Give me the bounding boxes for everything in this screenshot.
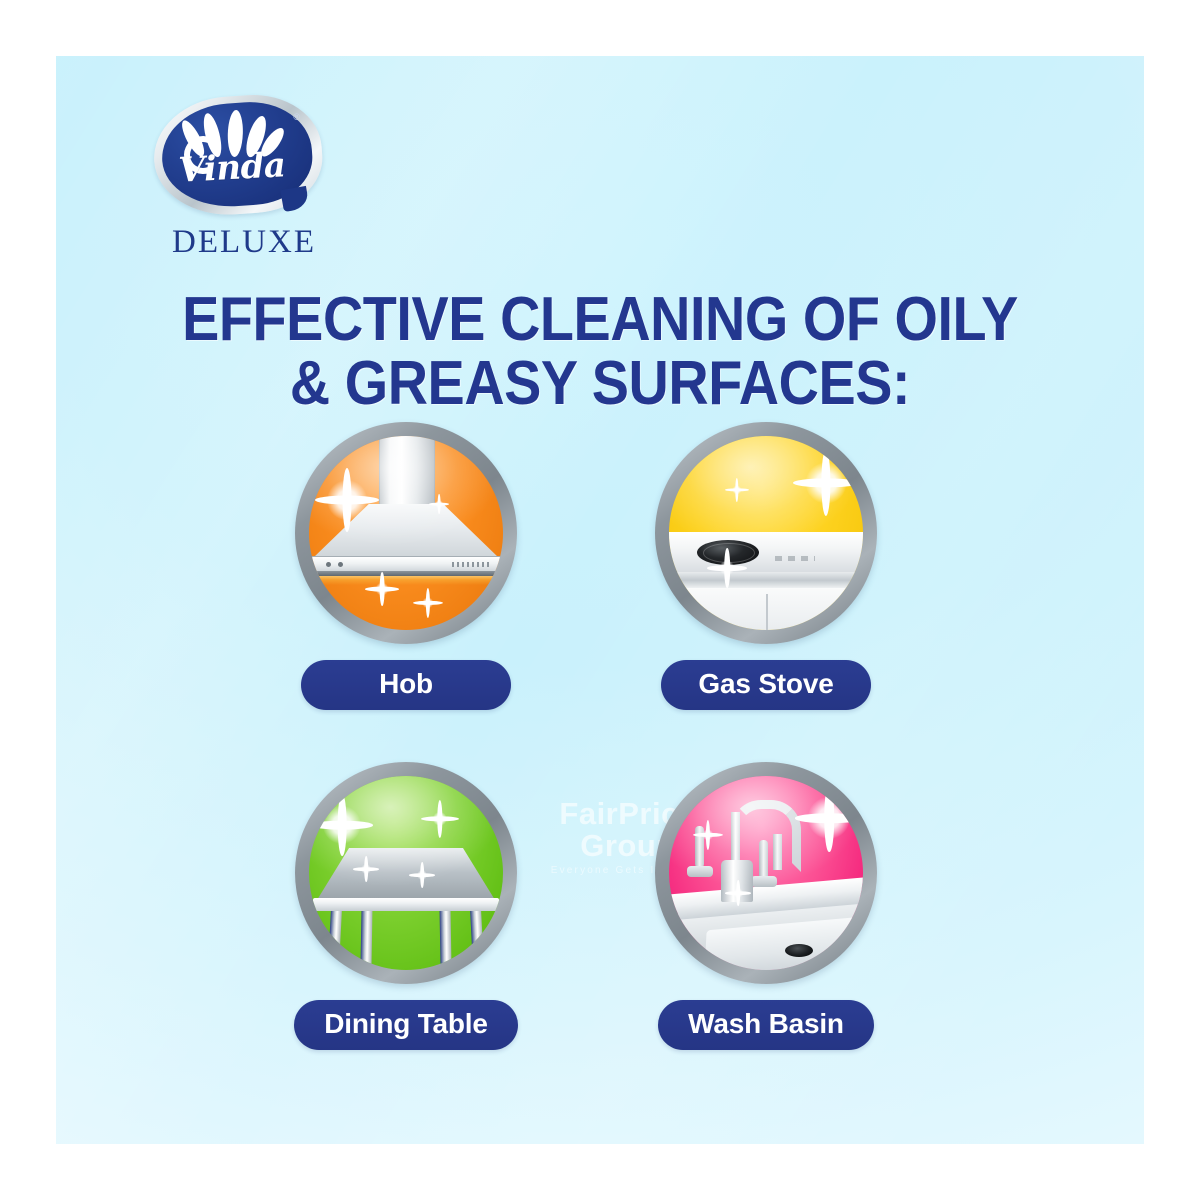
faucet-handle-base	[751, 876, 777, 887]
tile-row-1: Hob	[56, 422, 1144, 762]
hood-chimney	[379, 436, 435, 506]
hood-knob-icon	[338, 562, 343, 567]
tile-wash-basin[interactable]: Wash Basin	[616, 762, 916, 1050]
medallion-bezel	[295, 422, 517, 644]
faucet-riser	[731, 812, 740, 864]
headline-line-1: EFFECTIVE CLEANING OF OILY	[146, 288, 1053, 352]
vinda-wordmark: Vinda	[173, 145, 291, 191]
stove-counter-edge	[669, 572, 863, 588]
sparkle-icon	[793, 450, 859, 516]
stove-cabinet-divider	[766, 594, 768, 630]
table-top-surface	[317, 848, 495, 900]
hood-bottom-lip	[310, 571, 502, 576]
hood-canopy	[313, 504, 499, 558]
hood-knob-icon	[326, 562, 331, 567]
sparkle-icon	[421, 800, 459, 838]
page-title: EFFECTIVE CLEANING OF OILY & GREASY SURF…	[96, 288, 1104, 417]
faucet-spout-drop	[773, 834, 782, 870]
tile-hob[interactable]: Hob	[256, 422, 556, 710]
gas-stove-icon	[669, 436, 863, 630]
tile-gas-stove[interactable]: Gas Stove	[616, 422, 916, 710]
tile-label-dining-table[interactable]: Dining Table	[294, 1000, 518, 1050]
dining-table-icon	[309, 776, 503, 970]
medallion-bezel	[295, 762, 517, 984]
deluxe-subbrand: DELUXE	[124, 224, 364, 261]
surface-tiles-grid: Hob	[56, 422, 1144, 1102]
range-hood-icon	[309, 436, 503, 630]
stove-burner-ring	[703, 543, 755, 563]
medallion-bezel	[655, 762, 877, 984]
tile-dining-table[interactable]: Dining Table	[256, 762, 556, 1050]
medallion-bezel	[655, 422, 877, 644]
tile-label-gas-stove[interactable]: Gas Stove	[661, 660, 871, 710]
basin-drain	[785, 944, 813, 957]
sparkle-icon	[795, 784, 863, 852]
hood-vent-grille	[452, 562, 490, 567]
faucet-body	[721, 860, 753, 902]
tile-row-2: Dining Table	[56, 762, 1144, 1102]
stove-surface-marks	[775, 556, 815, 561]
table-apron	[313, 898, 499, 911]
table-leg	[439, 908, 451, 966]
sparkle-icon	[311, 794, 373, 856]
logo-tail-shape	[280, 186, 309, 212]
headline-line-2: & GREASY SURFACES:	[146, 352, 1053, 416]
faucet-handle	[695, 826, 704, 868]
sparkle-icon	[725, 478, 749, 502]
registered-trademark-icon: ®	[293, 112, 300, 122]
poster-root: FairPrice Group Everyone Gets It Better …	[0, 0, 1200, 1200]
tile-label-wash-basin[interactable]: Wash Basin	[658, 1000, 874, 1050]
wash-basin-icon	[669, 776, 863, 970]
faucet-handle-base	[687, 866, 713, 877]
table-leg	[327, 908, 342, 970]
poster-canvas: FairPrice Group Everyone Gets It Better …	[56, 56, 1144, 1144]
vinda-logo: ® Vinda	[154, 96, 322, 216]
table-leg	[360, 908, 372, 966]
table-leg	[470, 908, 485, 970]
brand-block: ® Vinda DELUXE	[104, 96, 374, 261]
tile-label-hob[interactable]: Hob	[301, 660, 511, 710]
sparkle-icon	[413, 588, 443, 618]
